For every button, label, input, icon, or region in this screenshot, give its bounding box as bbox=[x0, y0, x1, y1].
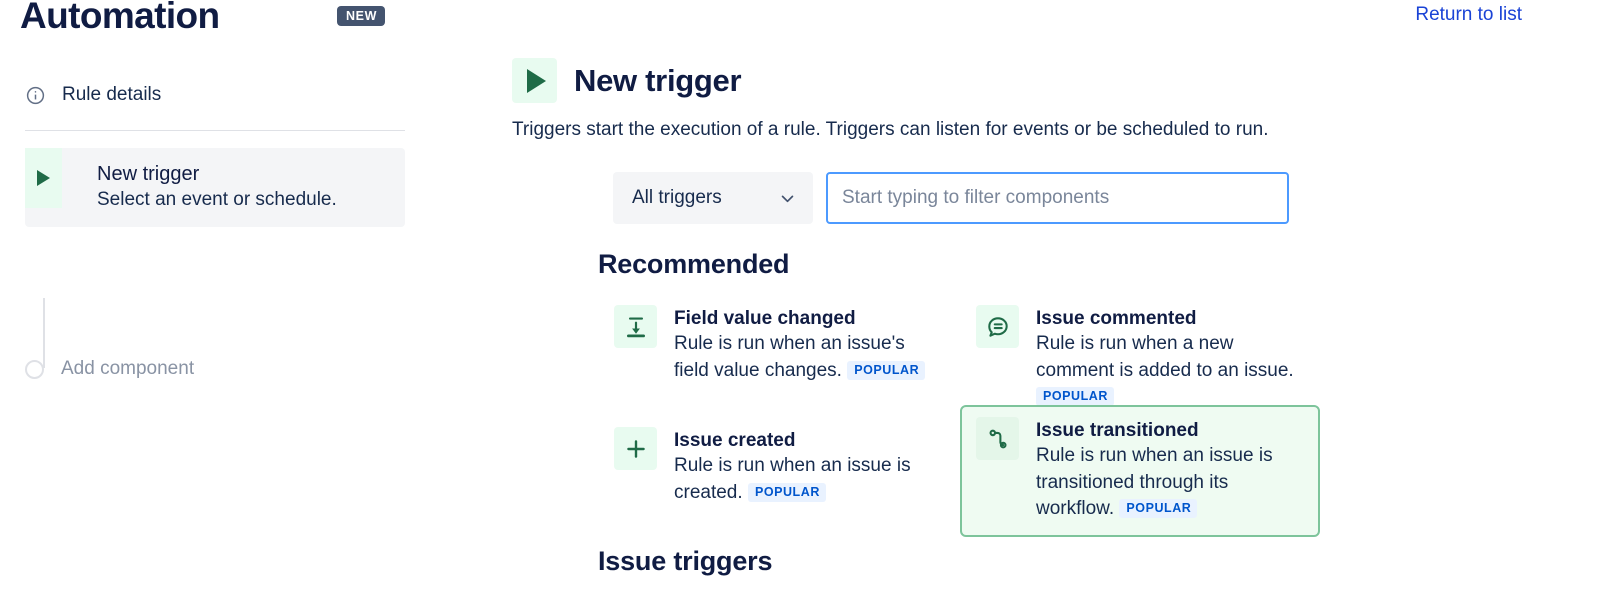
transition-icon bbox=[976, 417, 1019, 460]
panel-title: New trigger bbox=[574, 62, 741, 100]
automation-page: Automation NEW Return to list Rule detai… bbox=[0, 0, 1600, 606]
trigger-option-title: Issue commented bbox=[1036, 306, 1306, 331]
sidebar-item-new-trigger[interactable]: New trigger Select an event or schedule. bbox=[25, 148, 405, 227]
section-title-issue-triggers: Issue triggers bbox=[598, 544, 772, 578]
chevron-down-icon bbox=[779, 190, 796, 207]
new-trigger-panel: New trigger Triggers start the execution… bbox=[512, 58, 1512, 143]
play-icon bbox=[512, 58, 557, 103]
popular-badge: POPULAR bbox=[1119, 499, 1197, 518]
trigger-option-issue-created[interactable]: Issue created Rule is run when an issue … bbox=[598, 415, 948, 520]
trigger-option-field-value-changed[interactable]: Field value changed Rule is run when an … bbox=[598, 293, 948, 398]
sidebar-item-rule-details[interactable]: Rule details bbox=[0, 70, 430, 120]
trigger-type-select[interactable]: All triggers bbox=[613, 172, 813, 224]
popular-badge: POPULAR bbox=[847, 361, 925, 380]
plus-icon bbox=[614, 427, 657, 470]
sidebar-item-new-trigger-title: New trigger bbox=[97, 161, 405, 187]
trigger-option-description: Rule is run when an issue is transitione… bbox=[1036, 443, 1306, 523]
trigger-option-description: Rule is run when an issue's field value … bbox=[674, 331, 934, 384]
rule-builder-sidebar: Rule details New trigger Select an event… bbox=[0, 70, 430, 227]
field-value-changed-icon bbox=[614, 305, 657, 348]
page-title: Automation bbox=[20, 0, 220, 38]
circle-outline-icon bbox=[25, 360, 44, 379]
trigger-option-title: Field value changed bbox=[674, 306, 934, 331]
trigger-option-description: Rule is run when an issue is created. PO… bbox=[674, 453, 934, 506]
trigger-option-description: Rule is run when a new comment is added … bbox=[1036, 331, 1306, 411]
panel-description: Triggers start the execution of a rule. … bbox=[512, 117, 1512, 143]
comment-icon bbox=[976, 305, 1019, 348]
panel-header: New trigger bbox=[512, 58, 1512, 103]
sidebar-divider bbox=[25, 130, 405, 131]
new-badge: NEW bbox=[337, 6, 385, 26]
add-component-button[interactable]: Add component bbox=[25, 357, 194, 381]
sidebar-item-rule-details-label: Rule details bbox=[62, 83, 161, 107]
component-filter-input[interactable] bbox=[826, 172, 1289, 224]
trigger-option-title: Issue transitioned bbox=[1036, 418, 1306, 443]
return-to-list-link[interactable]: Return to list bbox=[1415, 3, 1522, 27]
add-component-label: Add component bbox=[61, 357, 194, 381]
popular-badge: POPULAR bbox=[1036, 387, 1114, 406]
play-icon bbox=[25, 148, 62, 208]
trigger-type-select-value: All triggers bbox=[632, 186, 722, 210]
filter-row: All triggers bbox=[613, 172, 1289, 224]
trigger-option-title: Issue created bbox=[674, 428, 934, 453]
info-icon bbox=[25, 85, 46, 106]
popular-badge: POPULAR bbox=[748, 483, 826, 502]
sidebar-item-new-trigger-subtitle: Select an event or schedule. bbox=[97, 187, 405, 212]
section-title-recommended: Recommended bbox=[598, 247, 789, 281]
trigger-option-issue-transitioned[interactable]: Issue transitioned Rule is run when an i… bbox=[960, 405, 1320, 537]
